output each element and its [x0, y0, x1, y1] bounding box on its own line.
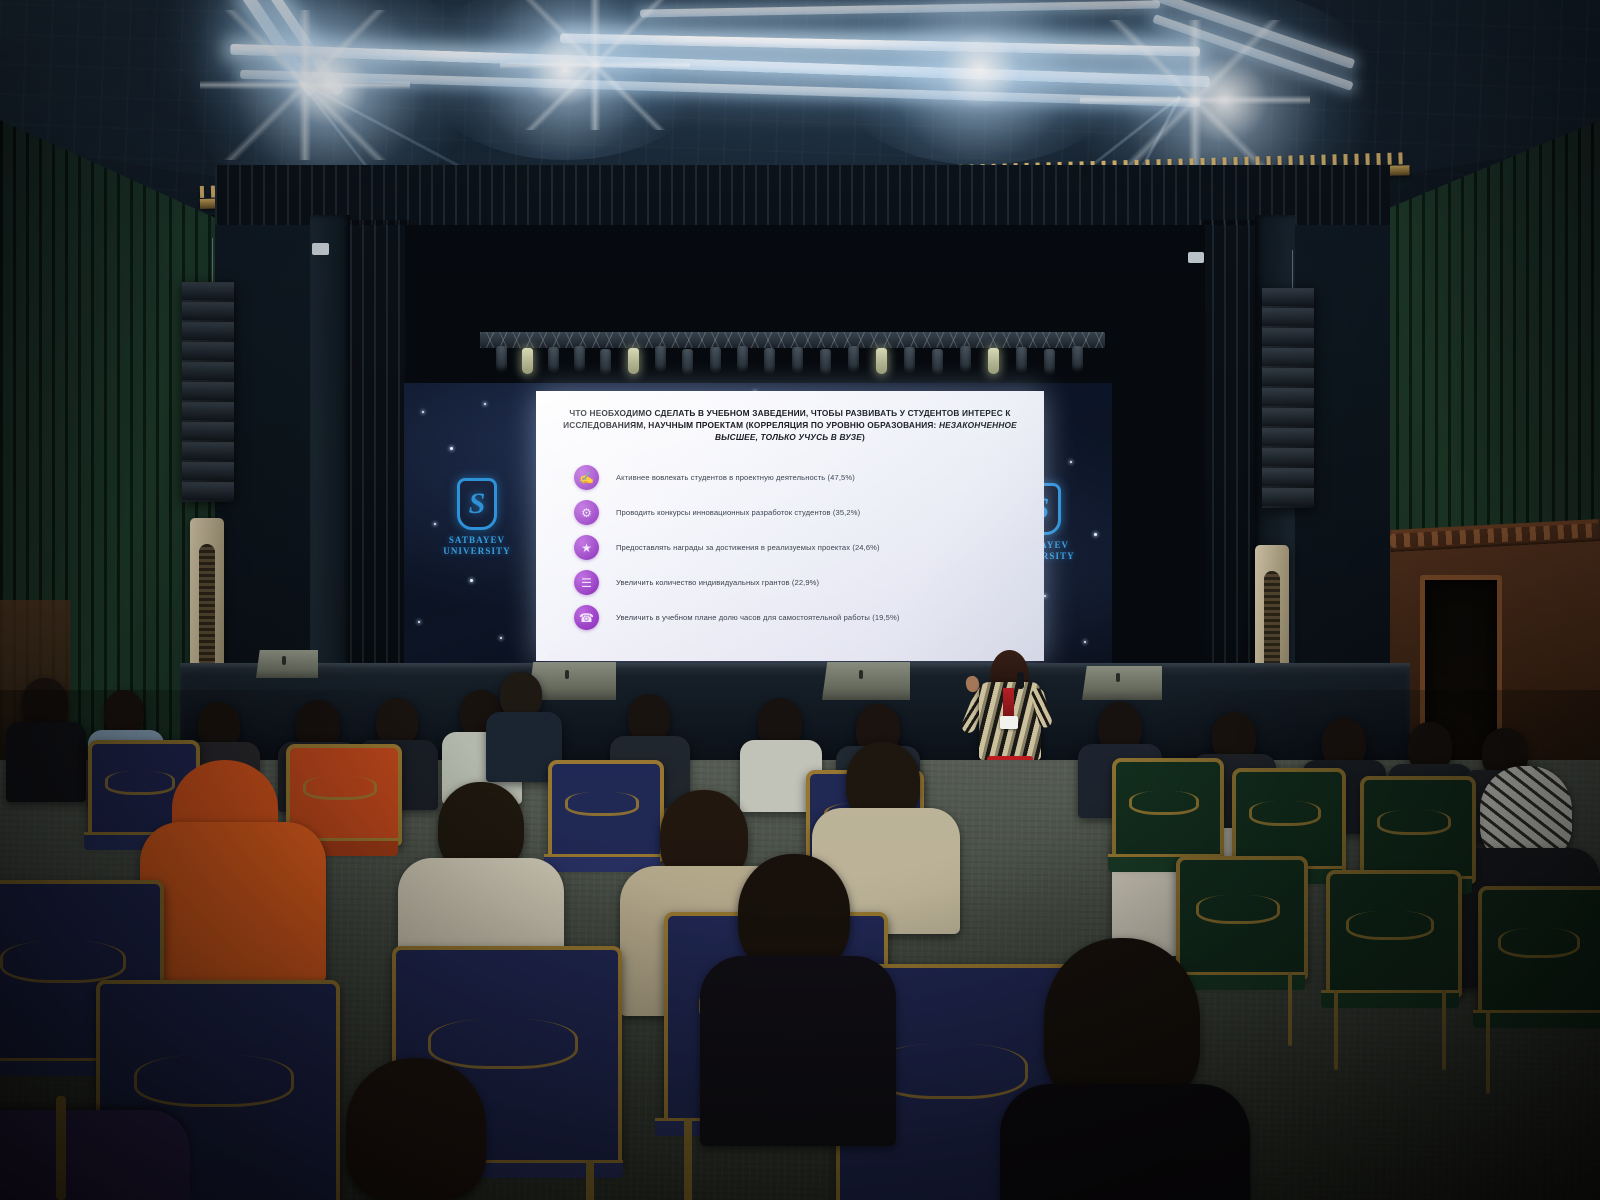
- stage-wedge-monitor: [822, 662, 910, 700]
- speaker-rigging-wire: [1292, 250, 1293, 292]
- proscenium-ribs: [215, 165, 1390, 225]
- gear-cog-icon: ⚙: [574, 500, 599, 525]
- presenter-lanyard: [1003, 688, 1014, 718]
- stage-wedge-monitor: [256, 650, 318, 678]
- logo-name-line2: UNIVERSITY: [440, 546, 514, 557]
- bullet-icon-glyph: ☰: [574, 570, 599, 595]
- bullet-icon-glyph: ✍: [574, 465, 599, 490]
- bullet-icon-glyph: ☎: [574, 605, 599, 630]
- bullet-icon-glyph: ⚙: [574, 500, 599, 525]
- proscenium-left-ribs: [350, 220, 410, 720]
- slide-title: ЧТО НЕОБХОДИМО СДЕЛАТЬ В УЧЕБНОМ ЗАВЕДЕН…: [554, 408, 1026, 443]
- slide-title-line1: ЧТО НЕОБХОДИМО СДЕЛАТЬ В УЧЕБНОМ ЗАВЕДЕН…: [569, 408, 905, 418]
- slide-title-line3-close: ): [862, 432, 865, 442]
- proscenium-right-ribs: [1200, 220, 1255, 720]
- chair[interactable]: [1326, 870, 1454, 990]
- slide-bullet-row: ✍ Активнее вовлекать студентов в проектн…: [574, 460, 1044, 495]
- slide-bullet-text: Увеличить количество индивидуальных гран…: [616, 578, 819, 587]
- slide-bullet-row: ☰ Увеличить количество индивидуальных гр…: [574, 565, 1044, 600]
- attendee-torso: [1000, 1084, 1250, 1200]
- presentation-slide: ЧТО НЕОБХОДИМО СДЕЛАТЬ В УЧЕБНОМ ЗАВЕДЕН…: [536, 391, 1044, 661]
- attendee-head: [628, 694, 670, 742]
- award-medal-icon: ★: [574, 535, 599, 560]
- presenter-name-badge: [1000, 716, 1018, 729]
- ceiling-camera-left: [312, 243, 329, 255]
- slide-bullet-list: ✍ Активнее вовлекать студентов в проектн…: [574, 460, 1044, 635]
- desk-lamp-icon: ☎: [574, 605, 599, 630]
- auditorium-presentation-photo: SATBAYEV UNIVERSITY SATBAYEV UNIVERSITY …: [0, 0, 1600, 1200]
- attendee-torso: [6, 722, 86, 802]
- logo-name-line1: SATBAYEV: [440, 535, 514, 546]
- chair[interactable]: [1232, 768, 1338, 866]
- chair[interactable]: [1478, 886, 1600, 1010]
- orange-hoodie-attendee-torso: [140, 822, 326, 982]
- clipboard-hand-icon: ✍: [574, 465, 599, 490]
- stage-lighting-truss: [480, 332, 1105, 348]
- left-line-array-speakers: [182, 282, 234, 502]
- slide-bullet-row: ⚙ Проводить конкурсы инновационных разра…: [574, 495, 1044, 530]
- chair[interactable]: [1360, 776, 1468, 876]
- attendee-head: [1044, 938, 1200, 1108]
- slide-bullet-text: Проводить конкурсы инновационных разрабо…: [616, 508, 860, 517]
- slide-bullet-text: Активнее вовлекать студентов в проектную…: [616, 473, 855, 482]
- slide-bullet-text: Предоставлять награды за достижения в ре…: [616, 543, 880, 552]
- chair-seat-cushion: [0, 1110, 190, 1200]
- chair[interactable]: [1176, 856, 1300, 972]
- stage-wedge-monitor: [1082, 666, 1162, 700]
- proscenium-left-jamb: [310, 215, 350, 725]
- attendee-head: [376, 698, 418, 746]
- chair[interactable]: [286, 744, 394, 838]
- attendee-head: [346, 1058, 486, 1200]
- slide-bullet-row: ★ Предоставлять награды за достижения в …: [574, 530, 1044, 565]
- bullet-icon-glyph: ★: [574, 535, 599, 560]
- slide-title-line3-plain: УРОВНЮ ОБРАЗОВАНИЯ:: [826, 420, 939, 430]
- slide-bullet-row: ☎ Увеличить в учебном плане долю часов д…: [574, 600, 1044, 635]
- satbayev-logo-left: SATBAYEV UNIVERSITY: [440, 478, 514, 558]
- speaker-rigging-wire: [212, 238, 213, 284]
- chair[interactable]: [1112, 758, 1216, 854]
- handheld-microphone-icon: [1017, 672, 1024, 689]
- chair-frame-foreground: [56, 1096, 66, 1200]
- slide-bullet-text: Увеличить в учебном плане долю часов для…: [616, 613, 900, 622]
- certificate-document-icon: ☰: [574, 570, 599, 595]
- satbayev-shield-icon: [457, 478, 497, 530]
- attendee-torso: [700, 956, 896, 1146]
- ceiling-camera-right: [1188, 252, 1204, 263]
- chair[interactable]: [548, 760, 656, 854]
- right-line-array-speakers: [1262, 288, 1314, 508]
- air-conditioner-tower-left: [190, 518, 224, 678]
